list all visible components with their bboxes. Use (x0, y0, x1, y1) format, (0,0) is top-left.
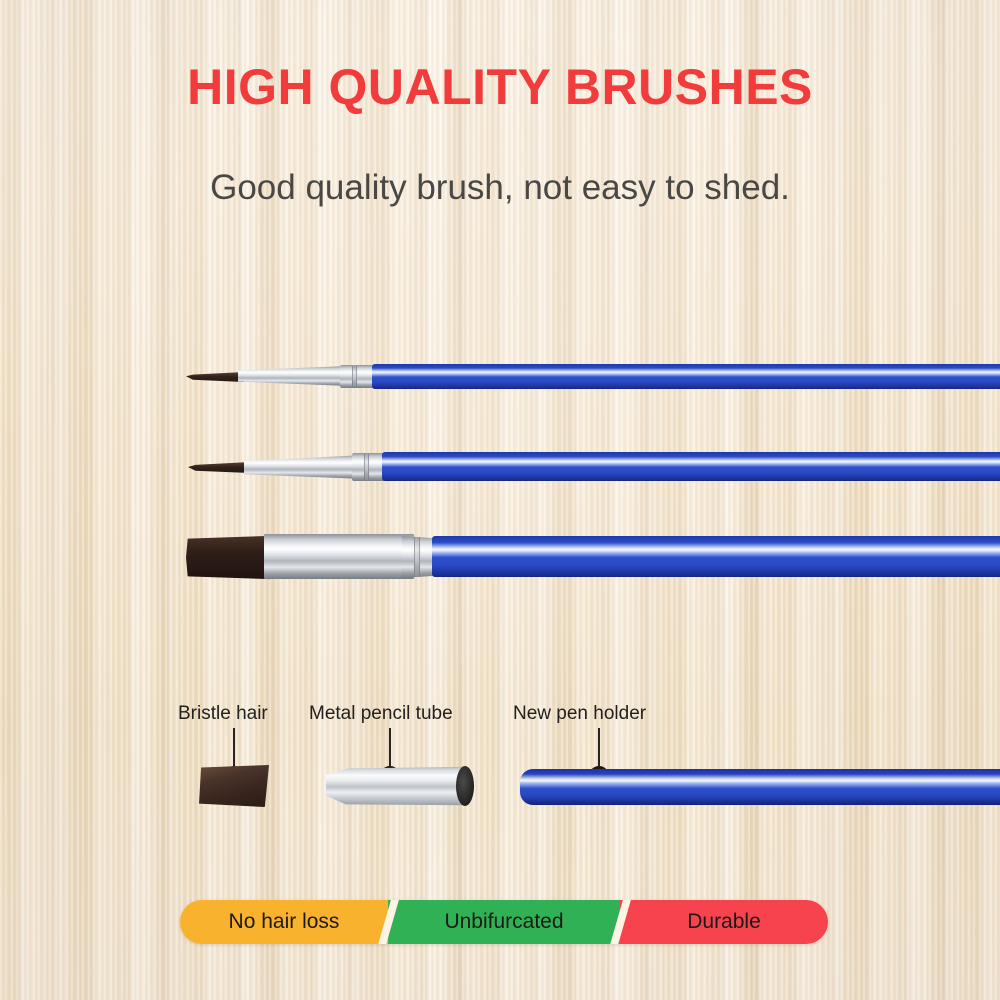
wood-grain-background (0, 0, 1000, 1000)
brush-2-bristle-tip (188, 462, 250, 473)
part-bristle-hair (199, 765, 269, 807)
product-poster: HIGH QUALITY BRUSHES Good quality brush,… (0, 0, 1000, 1000)
callout-label-bristle-hair: Bristle hair (178, 703, 268, 725)
feature-label-durable: Durable (687, 910, 761, 934)
part-metal-pencil-tube (326, 766, 466, 806)
brush-2-ferrule (244, 455, 364, 479)
brush-3-ferrule (264, 534, 414, 579)
brush-2-handle (382, 452, 1000, 481)
callout-label-metal-pencil-tube: Metal pencil tube (309, 703, 453, 725)
brush-1-ferrule-collar (340, 365, 376, 388)
feature-durable: Durable (620, 900, 828, 944)
feature-no-hair-loss: No hair loss (180, 900, 388, 944)
feature-label-no-hair-loss: No hair loss (229, 910, 340, 934)
feature-unbifurcated: Unbifurcated (388, 900, 620, 944)
brush-1-bristle-tip (186, 372, 244, 382)
brush-1-handle (372, 364, 1000, 389)
brush-3-handle (432, 536, 1000, 577)
brush-3-bristle-tip (186, 535, 270, 580)
page-title: HIGH QUALITY BRUSHES (0, 58, 1000, 116)
part-metal-tube-opening (456, 766, 474, 806)
brush-1-ferrule-ring (352, 366, 357, 387)
background-vignette (0, 0, 1000, 1000)
brush-3-ferrule-ring (414, 537, 420, 577)
feature-label-unbifurcated: Unbifurcated (444, 910, 563, 934)
page-subtitle: Good quality brush, not easy to shed. (0, 168, 1000, 208)
brush-2-ferrule-collar (352, 453, 386, 481)
part-new-pen-holder (520, 769, 1000, 805)
callout-label-new-pen-holder: New pen holder (513, 703, 646, 725)
brush-1-ferrule (238, 366, 348, 386)
feature-banner: No hair loss Unbifurcated Durable (180, 900, 828, 944)
brush-2-ferrule-ring (364, 454, 369, 480)
